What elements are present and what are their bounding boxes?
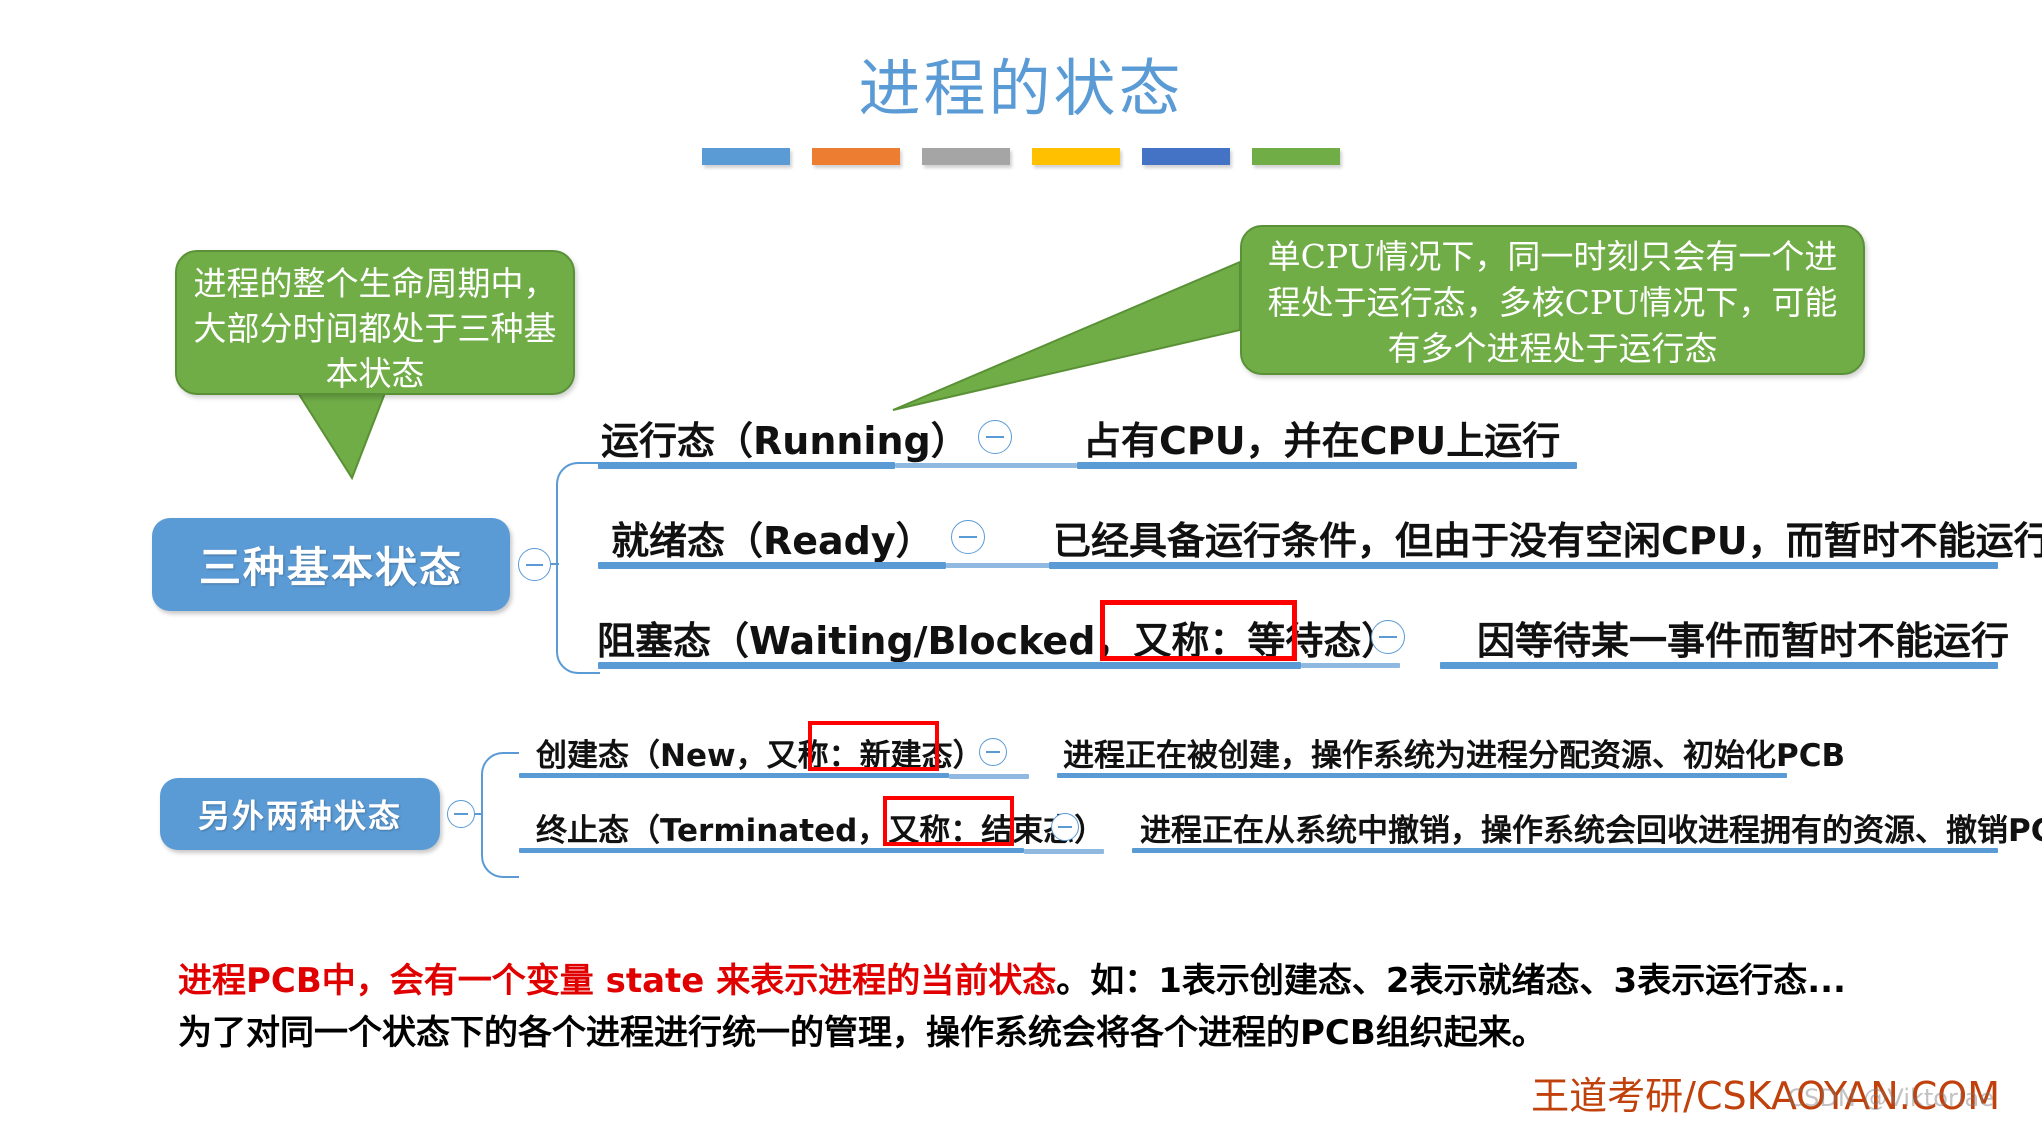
bottom-note-line2: 为了对同一个状态下的各个进程进行统一的管理，操作系统会将各个进程的PCB组织起来…	[178, 1007, 1968, 1059]
row-label-terminated: 终止态（Terminated，又称：结束态）	[536, 805, 1105, 850]
collapse-toggle-other-states[interactable]	[447, 800, 475, 828]
row-underline-new-right	[1057, 773, 1787, 778]
row-desc-blocked: 因等待某一事件而暂时不能运行	[1477, 610, 2009, 665]
row-underline-terminated-right	[1132, 848, 1998, 853]
row-underline-blocked-mid	[1301, 663, 1400, 668]
row-underline-running-mid	[895, 463, 1077, 468]
connector-brace-other	[481, 752, 519, 878]
footer-brand: 王道考研/CSKAOYAN.COM	[1531, 1065, 2000, 1120]
row-underline-terminated-mid	[1024, 849, 1104, 854]
node-other-states[interactable]: 另外两种状态	[160, 778, 440, 850]
bottom-note-line1-black: 。如：1表示创建态、2表示就绪态、3表示运行态...	[1056, 961, 1846, 1001]
highlight-box-waiting-alias	[1100, 600, 1297, 661]
connector-brace-basic	[556, 462, 600, 674]
row-label-ready: 就绪态（Ready）	[611, 510, 934, 565]
bottom-note: 进程PCB中，会有一个变量 state 来表示进程的当前状态。如：1表示创建态、…	[178, 955, 1968, 1059]
row-desc-running: 占有CPU，并在CPU上运行	[1083, 410, 1560, 465]
row-underline-running-right	[1077, 462, 1577, 469]
slide-canvas: 进程的状态 进程的整个生命周期中，大部分时间都处于三种基本状态 单CPU情况下，…	[0, 0, 2042, 1142]
bottom-note-line1: 进程PCB中，会有一个变量 state 来表示进程的当前状态。如：1表示创建态、…	[178, 955, 1968, 1007]
row-underline-terminated-left	[519, 848, 1024, 853]
row-underline-blocked-left	[598, 662, 1301, 669]
collapse-toggle-terminated[interactable]	[1051, 813, 1079, 841]
callout-left-bubble: 进程的整个生命周期中，大部分时间都处于三种基本状态	[175, 250, 575, 395]
node-basic-states[interactable]: 三种基本状态	[152, 518, 510, 611]
collapse-toggle-basic-states[interactable]	[518, 548, 551, 581]
row-underline-ready-right	[1049, 562, 1998, 569]
callout-right-bubble: 单CPU情况下，同一时刻只会有一个进程处于运行态，多核CPU情况下，可能有多个进…	[1240, 225, 1865, 375]
row-desc-terminated: 进程正在从系统中撤销，操作系统会回收进程拥有的资源、撤销PCB	[1140, 805, 2042, 850]
row-desc-new: 进程正在被创建，操作系统为进程分配资源、初始化PCB	[1063, 730, 1845, 775]
row-underline-blocked-right	[1440, 662, 1998, 669]
collapse-toggle-blocked[interactable]	[1371, 620, 1405, 654]
row-underline-ready-left	[598, 562, 946, 569]
collapse-toggle-running[interactable]	[978, 420, 1012, 454]
bottom-note-line1-red: 进程PCB中，会有一个变量 state 来表示进程的当前状态	[178, 961, 1056, 1001]
row-underline-new-left	[519, 773, 949, 778]
row-label-running: 运行态（Running）	[601, 410, 969, 465]
row-desc-ready: 已经具备运行条件，但由于没有空闲CPU，而暂时不能运行	[1053, 510, 2042, 565]
collapse-toggle-ready[interactable]	[951, 520, 985, 554]
highlight-box-terminated-alias	[883, 796, 1014, 846]
highlight-box-new-alias	[808, 721, 939, 771]
row-underline-new-mid	[949, 774, 1029, 779]
connector-stub-other	[474, 813, 483, 815]
row-underline-ready-mid	[946, 563, 1056, 568]
collapse-toggle-new[interactable]	[979, 738, 1007, 766]
connector-stub-basic	[551, 563, 559, 565]
row-underline-running-left	[598, 462, 895, 469]
